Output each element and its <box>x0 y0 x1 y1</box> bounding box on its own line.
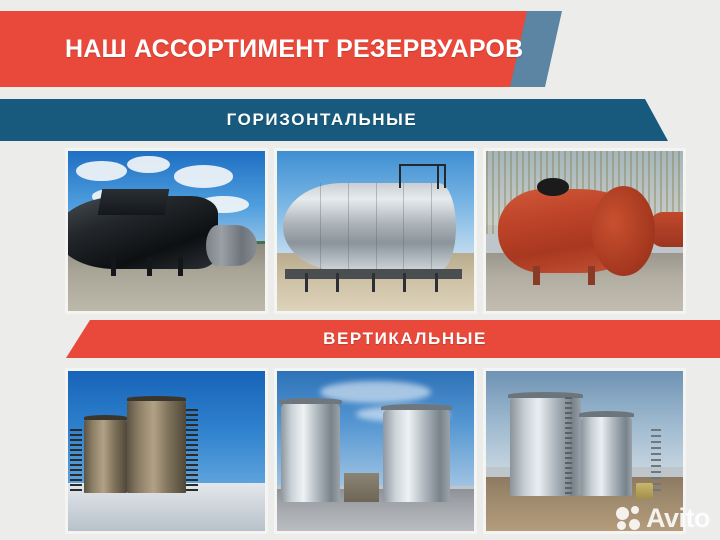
photo-black-horizontal-tank <box>65 148 268 314</box>
photo-scene <box>277 371 474 531</box>
photo-scene <box>486 371 683 531</box>
frame-leg <box>435 273 438 292</box>
vertical-tank <box>581 416 632 496</box>
lattice-mast <box>651 429 661 493</box>
photo-scene <box>68 371 265 531</box>
photo-vertical-steel-tanks-yard <box>483 368 686 534</box>
photo-row-horizontal <box>65 148 686 314</box>
frame-leg <box>305 273 308 292</box>
section-banner-horizontal: ГОРИЗОНТАЛЬНЫЕ <box>0 99 720 141</box>
tank-leg <box>147 257 152 276</box>
tank-leg <box>533 266 540 285</box>
section-banner-vertical: ВЕРТИКАЛЬНЫЕ <box>0 320 720 358</box>
spiral-stair <box>186 409 198 492</box>
section-label-horizontal: ГОРИЗОНТАЛЬНЫЕ <box>0 99 644 141</box>
tank-leg <box>588 266 595 285</box>
photo-stainless-horizontal-tank <box>274 148 477 314</box>
photo-scene <box>486 151 683 311</box>
photo-scene <box>68 151 265 311</box>
section-label-vertical: ВЕРТИКАЛЬНЫЕ <box>90 320 720 358</box>
frame-leg <box>372 273 375 292</box>
photo-row-vertical <box>65 368 686 534</box>
frame-leg <box>403 273 406 292</box>
tank-leg <box>111 257 116 276</box>
tank-rib <box>431 183 432 271</box>
equipment-cabinet <box>344 473 379 502</box>
tank-rib <box>403 183 404 271</box>
frame-leg <box>336 273 339 292</box>
secondary-drum <box>206 225 257 267</box>
tank-hatch <box>537 178 569 196</box>
tank-rib <box>320 183 321 271</box>
top-railing <box>399 164 446 188</box>
tank-rib <box>376 183 377 271</box>
vertical-tank <box>127 400 186 493</box>
tank-top-box <box>97 189 168 215</box>
page-title: НАШ АССОРТИМЕНТ РЕЗЕРВУАРОВ <box>65 11 523 87</box>
photo-scene <box>277 151 474 311</box>
vertical-tank <box>281 403 340 502</box>
spiral-stair <box>70 429 82 493</box>
tank-ladder <box>565 397 572 496</box>
cloud <box>174 165 233 187</box>
photo-red-horizontal-tank <box>483 148 686 314</box>
vertical-tank <box>383 409 450 502</box>
yellow-barrel <box>636 483 654 499</box>
poster-canvas: НАШ АССОРТИМЕНТ РЕЗЕРВУАРОВ ГОРИЗОНТАЛЬН… <box>0 0 720 540</box>
title-banner: НАШ АССОРТИМЕНТ РЕЗЕРВУАРОВ <box>0 11 720 87</box>
tank-head <box>592 186 655 276</box>
railing-post <box>437 164 439 190</box>
vertical-tank <box>84 419 127 493</box>
photo-vertical-steel-tanks-pair <box>274 368 477 534</box>
tank-leg <box>178 257 183 276</box>
tank-rib <box>348 183 349 271</box>
photo-vertical-tanks-snow-site <box>65 368 268 534</box>
